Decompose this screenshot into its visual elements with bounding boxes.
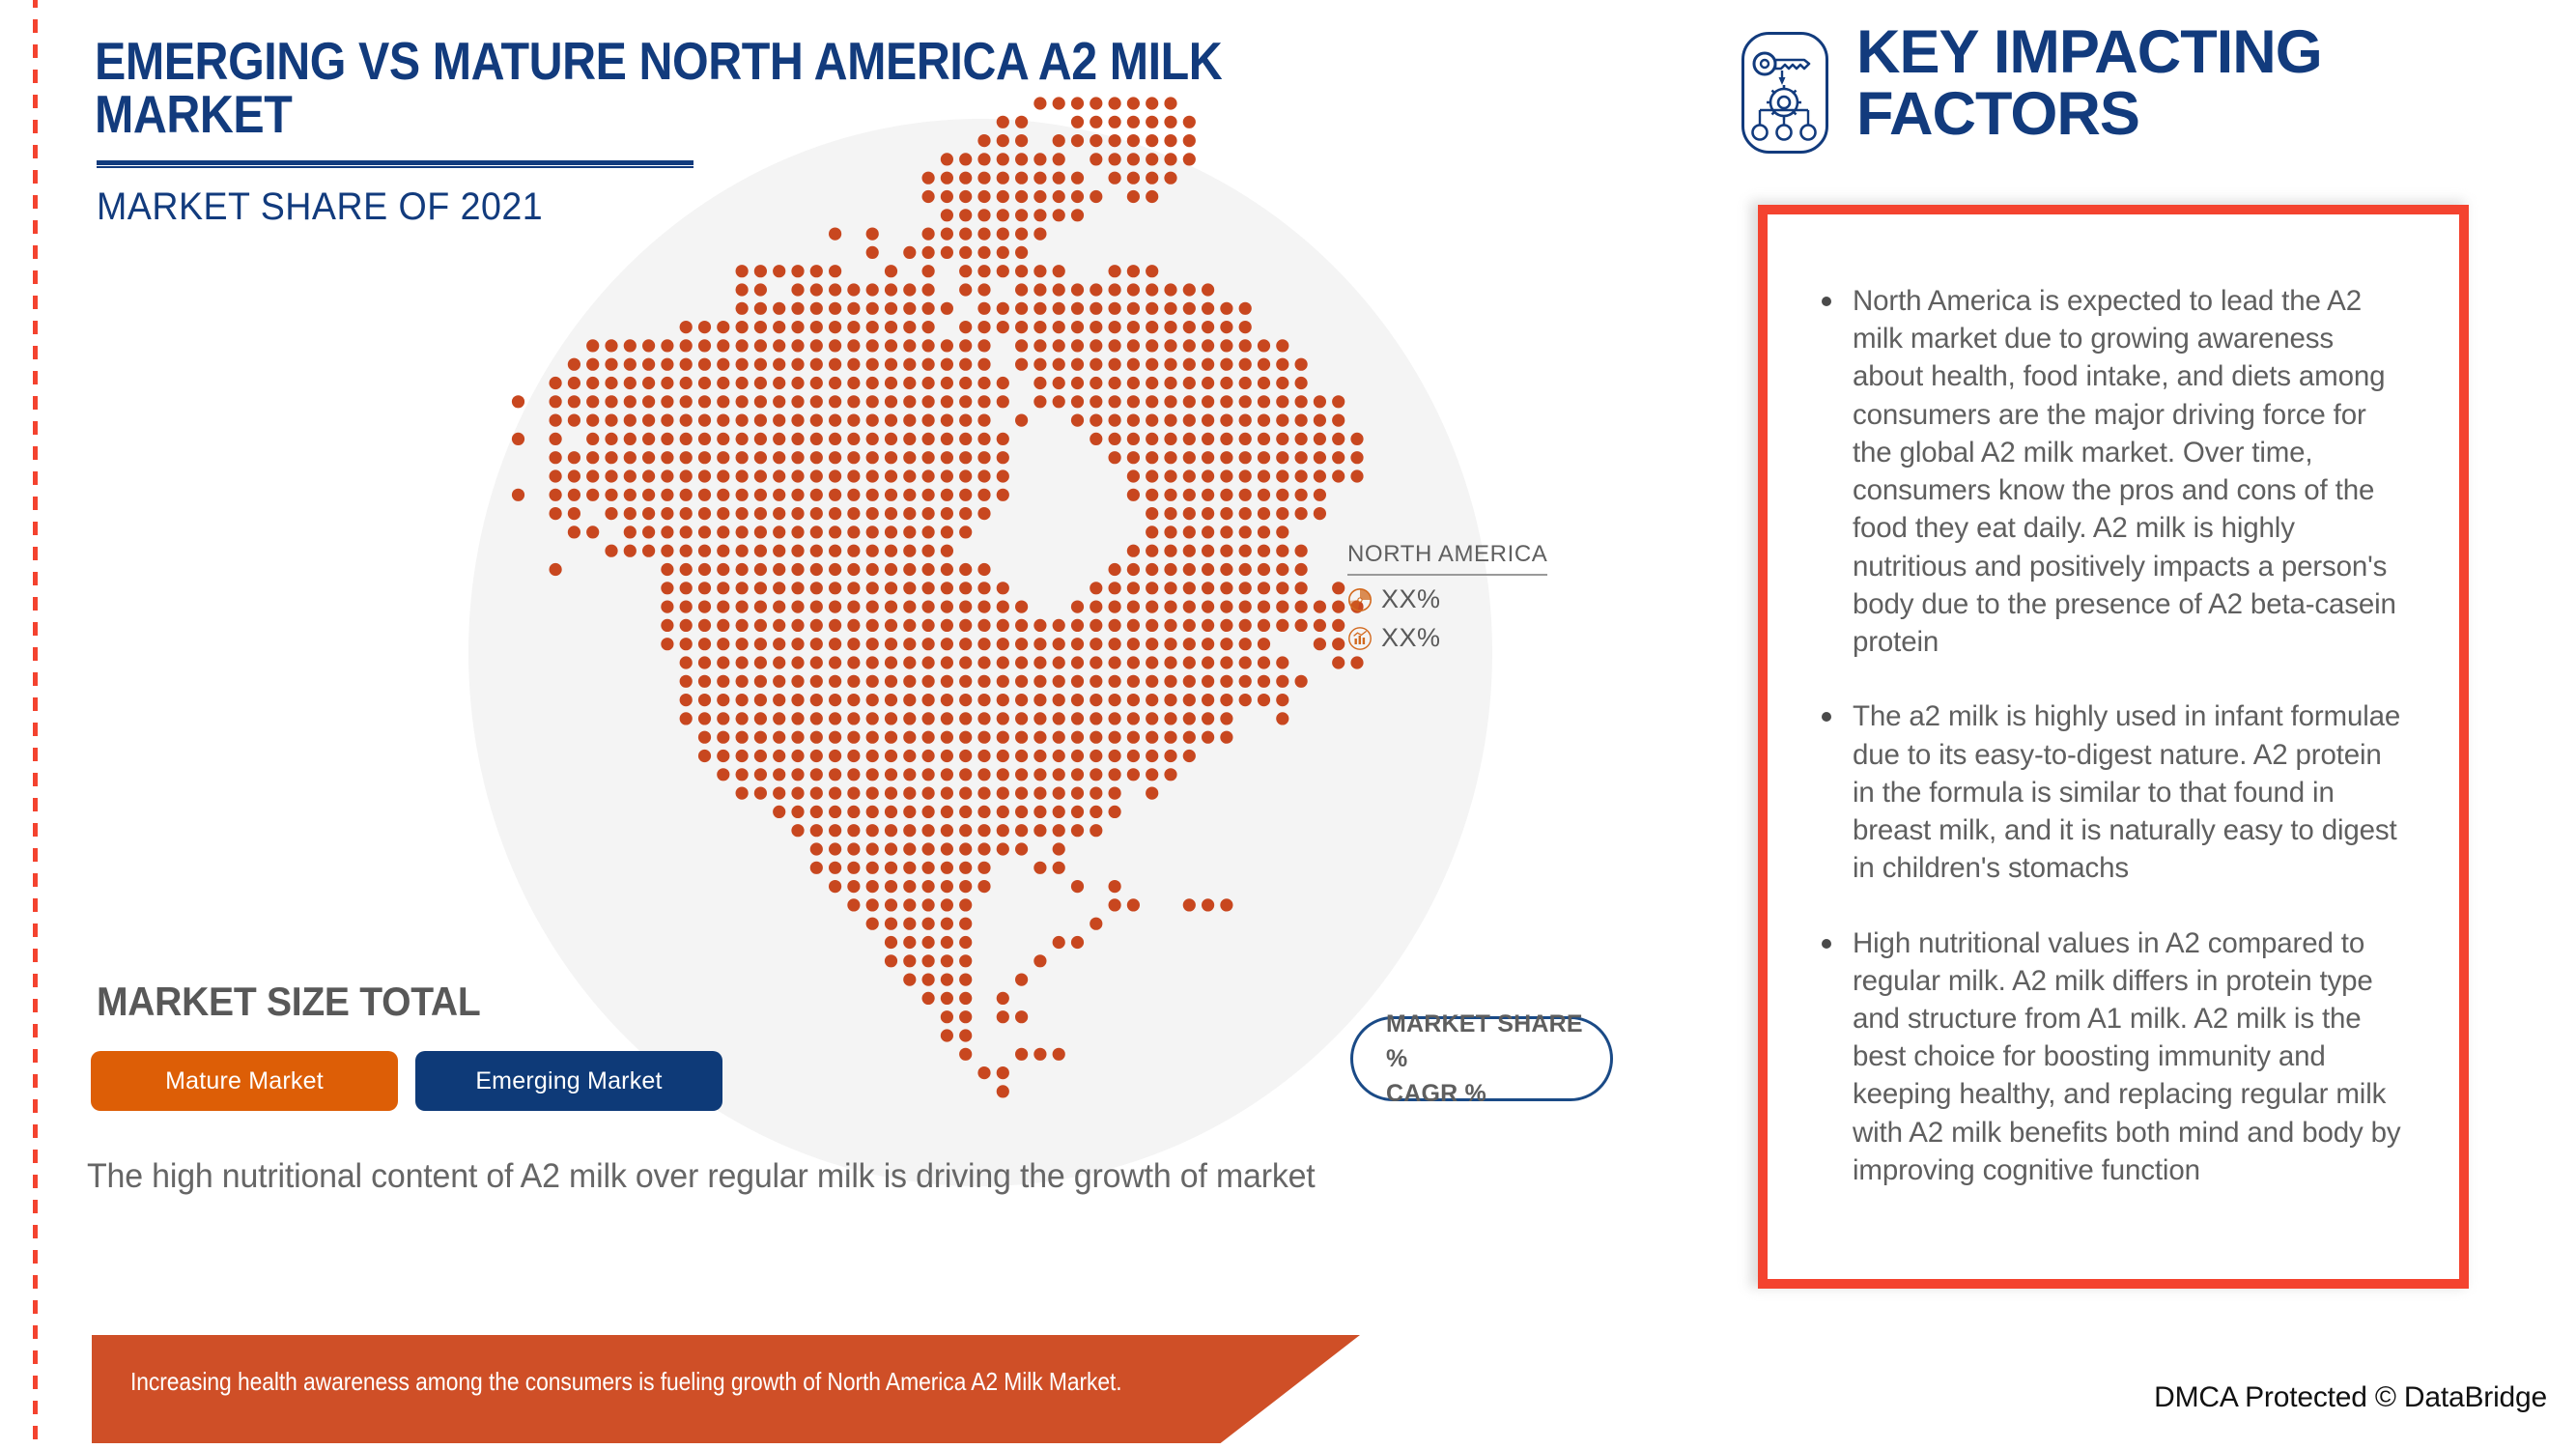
key-factor-item: High nutritional values in A2 compared t… [1818, 924, 2405, 1190]
left-panel: EMERGING VS MATURE NORTH AMERICA A2 MILK… [0, 0, 1700, 1449]
legend-region-label: NORTH AMERICA [1347, 541, 1547, 576]
key-factor-item: The a2 milk is highly used in infant for… [1818, 697, 2405, 887]
market-type-legend: Mature Market Emerging Market [91, 1051, 722, 1111]
legend-cagr-value: XX% [1381, 623, 1441, 653]
pill-cagr-label: CAGR % [1386, 1076, 1610, 1111]
bottom-banner: Increasing health awareness among the co… [92, 1335, 1360, 1443]
pill-market-share-label: MARKET SHARE % [1386, 1007, 1610, 1077]
map-legend: NORTH AMERICA XX% XX% [1347, 541, 1579, 653]
bottom-banner-text: Increasing health awareness among the co… [130, 1367, 1122, 1397]
chip-mature-market[interactable]: Mature Market [91, 1051, 398, 1111]
legend-row-market-share: XX% [1347, 584, 1579, 614]
legend-row-cagr: XX% [1347, 623, 1579, 653]
chip-emerging-market[interactable]: Emerging Market [415, 1051, 722, 1111]
dmca-footer: DMCA Protected © DataBridge [2154, 1381, 2547, 1414]
key-impacting-factors-title: KEY IMPACTING FACTORS [1856, 21, 2494, 146]
bar-chart-circle-icon [1347, 626, 1373, 651]
key-factors-panel-inner: North America is expected to lead the A2… [1779, 226, 2448, 1267]
metric-pill: MARKET SHARE % CAGR % [1350, 1016, 1613, 1101]
key-factor-item: North America is expected to lead the A2… [1818, 282, 2405, 661]
key-gear-network-icon [1741, 31, 1829, 155]
map-caption: The high nutritional content of A2 milk … [87, 1157, 1316, 1196]
pie-chart-icon [1347, 587, 1373, 612]
legend-market-share-value: XX% [1381, 584, 1441, 614]
market-size-total-heading: MARKET SIZE TOTAL [97, 979, 480, 1025]
key-factors-panel: North America is expected to lead the A2… [1758, 205, 2469, 1289]
key-factors-list: North America is expected to lead the A2… [1818, 282, 2405, 1189]
slide-root: EMERGING VS MATURE NORTH AMERICA A2 MILK… [0, 0, 2576, 1449]
